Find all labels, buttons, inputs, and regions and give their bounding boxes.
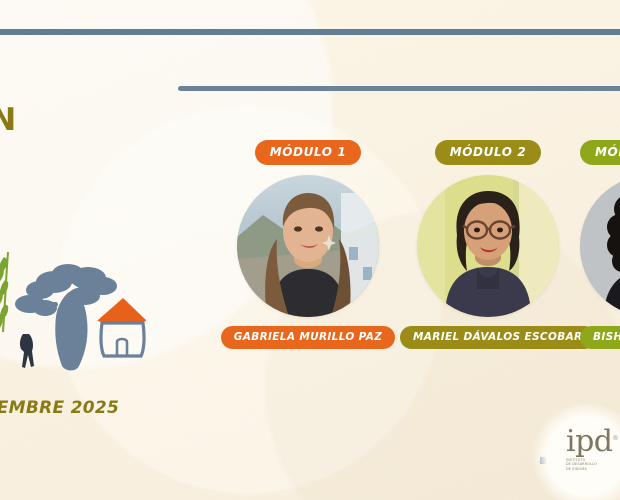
organization-logo: ipd® INSTITUTO DE DESARROLLO DE SIDOMA (566, 424, 620, 486)
poster-canvas: ACIÓN AR NOVIEMBRE 2025 (0, 0, 620, 500)
module-3-avatar (580, 175, 620, 317)
module-card-1[interactable]: MÓDULO 1 (220, 140, 396, 349)
module-1-avatar (237, 175, 379, 317)
module-3-presenter-name[interactable]: BISHELA (580, 326, 620, 349)
module-2-presenter-name[interactable]: MARIEL DÁVALOS ESCOBAR (400, 326, 596, 349)
logo-subtitle-line-3: DE SIDOMA (566, 467, 620, 471)
module-card-2[interactable]: MÓDULO 2 (400, 140, 576, 349)
trademark-icon: ® (613, 435, 619, 442)
module-2-badge[interactable]: MÓDULO 2 (435, 140, 542, 165)
logo-subtitle: INSTITUTO DE DESARROLLO DE SIDOMA (566, 458, 620, 471)
logo-wordmark: ipd® (566, 424, 620, 457)
module-1-name-wrap: GABRIELA MURILLO PAZ (220, 326, 396, 349)
module-list: MÓDULO 1 (0, 0, 620, 500)
module-card-3[interactable]: MÓDULO 3 (580, 140, 620, 349)
module-1-badge-wrap: MÓDULO 1 (220, 140, 396, 168)
module-2-name-wrap: MARIEL DÁVALOS ESCOBAR (400, 326, 576, 349)
module-3-badge[interactable]: MÓDULO 3 (580, 140, 620, 165)
module-3-name-wrap: BISHELA (580, 326, 620, 349)
logo-wordmark-text: ipd (566, 424, 613, 459)
module-1-badge[interactable]: MÓDULO 1 (255, 140, 362, 165)
module-1-presenter-name[interactable]: GABRIELA MURILLO PAZ (221, 326, 395, 349)
module-3-badge-wrap: MÓDULO 3 (580, 140, 620, 168)
module-2-avatar (417, 175, 559, 317)
module-2-badge-wrap: MÓDULO 2 (400, 140, 576, 168)
